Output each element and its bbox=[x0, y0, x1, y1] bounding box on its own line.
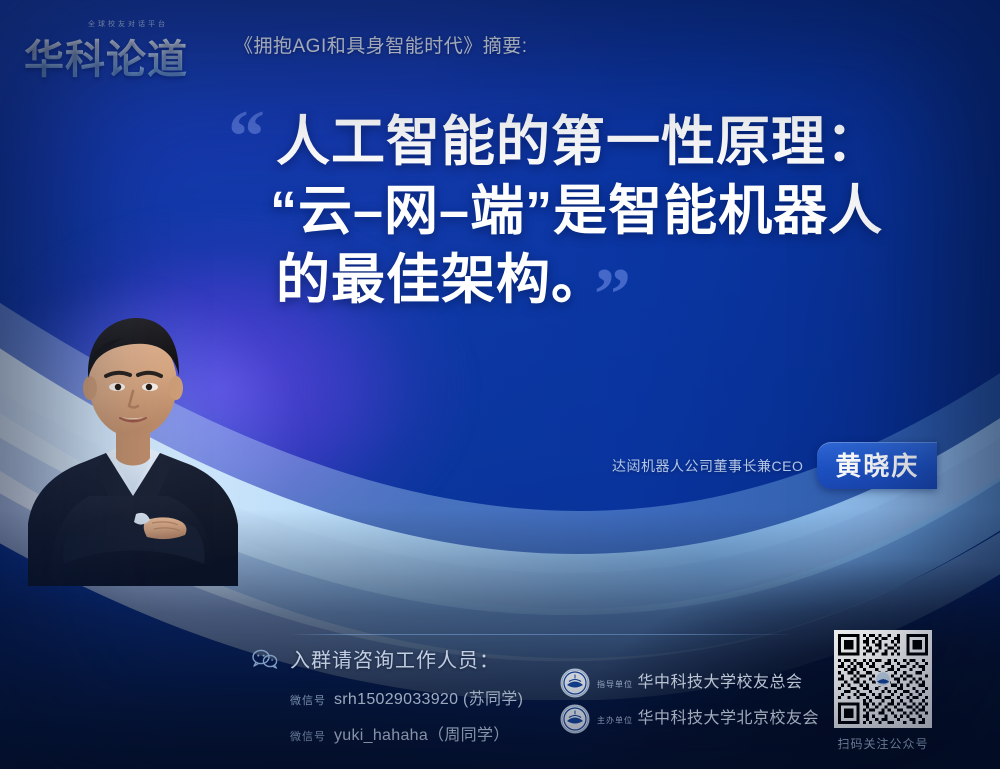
quote-open-mark: “ bbox=[228, 100, 265, 174]
organization-kind: 指导单位 bbox=[597, 680, 633, 689]
university-seal-icon bbox=[560, 704, 590, 734]
speaker-name-badge: 黄晓庆 bbox=[817, 442, 937, 489]
organization-row: 指导单位 华中科技大学校友总会 bbox=[560, 668, 819, 698]
organization-text: 主办单位 华中科技大学北京校友会 bbox=[597, 710, 819, 728]
poster-root: 全球校友对话平台 华科论道 《拥抱AGI和具身智能时代》摘要: “ 人工智能的第… bbox=[0, 0, 1000, 769]
footer-divider bbox=[288, 634, 788, 635]
poster-header: 全球校友对话平台 华科论道 《拥抱AGI和具身智能时代》摘要: bbox=[0, 0, 1000, 88]
organization-name: 华中科技大学校友总会 bbox=[637, 674, 802, 691]
university-seal-icon bbox=[560, 668, 590, 698]
qr-caption: 扫码关注公众号 bbox=[834, 735, 932, 752]
organization-list: 指导单位 华中科技大学校友总会 主办单位 华中科技大学北京校友会 bbox=[560, 668, 819, 740]
wechat-icon bbox=[252, 649, 278, 669]
organization-row: 主办单位 华中科技大学北京校友会 bbox=[560, 704, 819, 734]
qr-block: 扫码关注公众号 bbox=[834, 630, 932, 752]
quote-close-mark: ” bbox=[594, 258, 631, 332]
organization-kind: 主办单位 bbox=[597, 716, 633, 725]
headline-line-2: “云–网–端”是智能机器人 bbox=[270, 177, 966, 246]
qr-code-image[interactable] bbox=[834, 630, 932, 728]
headline-line-1: 人工智能的第一性原理： bbox=[276, 108, 966, 177]
logo-wordmark: 华科论道 bbox=[24, 27, 188, 85]
speaker-credit: 达闼机器人公司董事长兼CEO 黄晓庆 bbox=[612, 442, 937, 489]
speaker-role: 达闼机器人公司董事长兼CEO bbox=[612, 456, 803, 476]
contact-label: 微信号 bbox=[290, 692, 326, 708]
contact-value[interactable]: srh15029033920 (苏同学) bbox=[334, 685, 523, 709]
organization-text: 指导单位 华中科技大学校友总会 bbox=[597, 674, 802, 692]
organization-name: 华中科技大学北京校友会 bbox=[637, 710, 819, 727]
footer-heading-text: 入群请咨询工作人员： bbox=[290, 644, 500, 673]
contact-label: 微信号 bbox=[290, 728, 326, 744]
contact-value[interactable]: yuki_hahaha（周同学） bbox=[334, 721, 510, 745]
page-title: 《拥抱AGI和具身智能时代》摘要: bbox=[234, 31, 528, 58]
brand-logo: 全球校友对话平台 华科论道 bbox=[24, 13, 216, 75]
